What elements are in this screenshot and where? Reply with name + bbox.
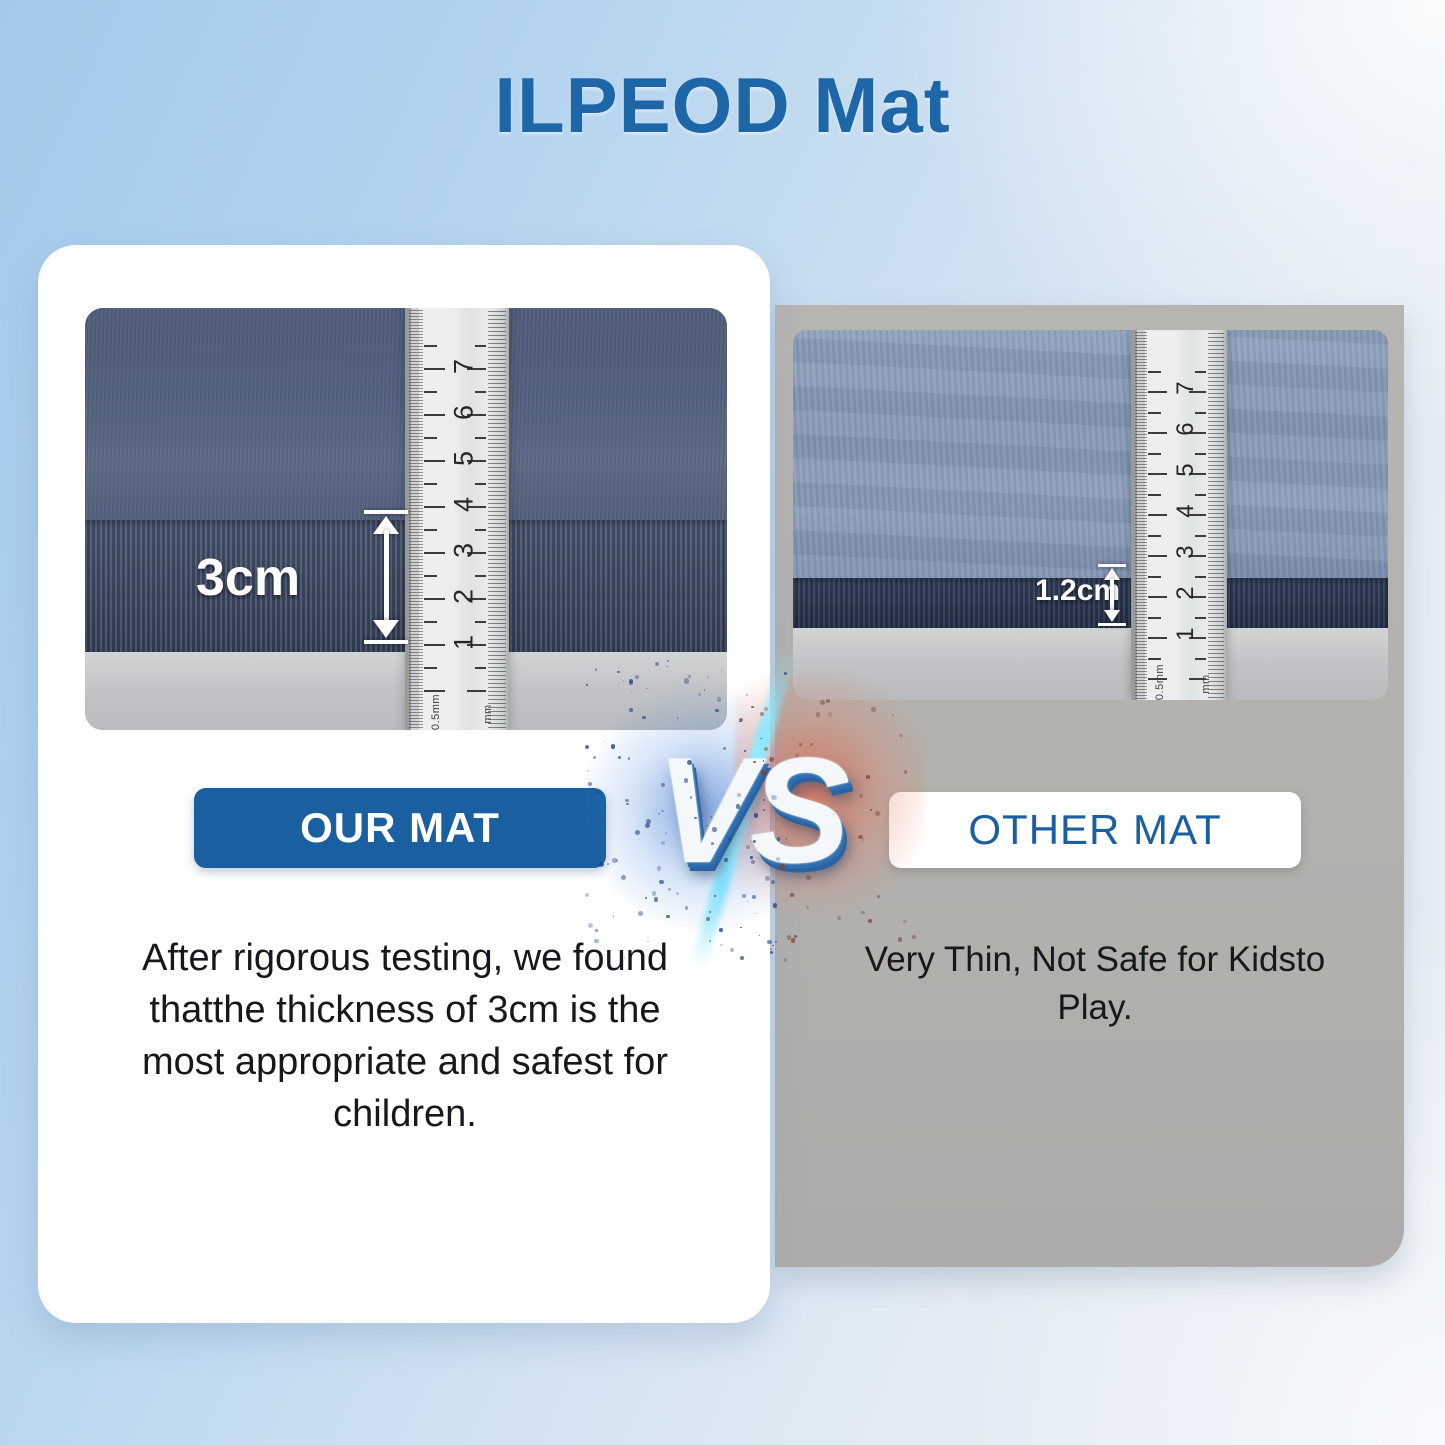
- ruler-tick: [409, 619, 423, 620]
- ruler-tick: [1135, 461, 1147, 462]
- ruler-tick: [488, 503, 506, 504]
- ruler-tick: [1208, 541, 1224, 542]
- ruler-tick: [409, 367, 423, 368]
- ruler-tick: [488, 527, 506, 528]
- ruler-tick: [409, 328, 423, 329]
- ruler-tick: [488, 467, 506, 468]
- ruler-tick: [488, 387, 506, 388]
- ruler-tick: [1208, 501, 1224, 502]
- ruler-number: 1: [448, 626, 479, 660]
- ruler-tick: [488, 511, 506, 512]
- ruler-tick: [488, 603, 506, 604]
- ruler-tick: [1135, 455, 1147, 456]
- ruler-tick: [1208, 513, 1224, 514]
- ruler-tick: [409, 652, 423, 653]
- ruler-tick: [1208, 533, 1224, 534]
- ruler-tick: [409, 631, 423, 632]
- ruler-tick: [488, 419, 506, 420]
- ruler-tick: [488, 595, 506, 596]
- infographic-canvas: ILPEOD Mat 12345670.5mmmm 3cm 12345670.5…: [0, 0, 1445, 1445]
- ruler-tick: [409, 385, 423, 386]
- ruler-tick: [488, 655, 506, 656]
- ruler-tick: [488, 383, 506, 384]
- ruler-tick: [1148, 658, 1160, 660]
- ruler-tick: [409, 487, 423, 488]
- ruler-tick: [1135, 689, 1147, 690]
- ruler-tick: [409, 604, 423, 605]
- ruler-tick: [409, 583, 423, 584]
- ruler-tick: [488, 475, 506, 476]
- other-measurement-arrow: [1098, 564, 1126, 626]
- ruler-tick: [1208, 341, 1224, 342]
- ruler-tick: [409, 445, 423, 446]
- ruler-tick: [409, 310, 423, 311]
- ruler-tick: [409, 496, 423, 497]
- ruler-tick: [409, 403, 423, 404]
- ruler-tick: [409, 598, 423, 599]
- ruler-tick: [1135, 698, 1147, 699]
- ruler-tick: [409, 361, 423, 362]
- ruler-tick: [1208, 517, 1224, 518]
- ruler-tick: [409, 502, 423, 503]
- ruler-tick: [488, 463, 506, 464]
- ruler-tick: [488, 683, 506, 684]
- ruler-tick: [488, 331, 506, 332]
- ruler-tick: [1208, 641, 1224, 642]
- ruler-tick: [1148, 576, 1160, 578]
- ruler-tick: [1135, 527, 1147, 528]
- ruler-tick: [1208, 625, 1224, 626]
- ruler-tick: [488, 671, 506, 672]
- ruler-tick: [1148, 453, 1160, 455]
- ruler-number: 7: [1172, 371, 1200, 405]
- ruler-tick: [1208, 629, 1224, 630]
- ruler-tick: [1135, 569, 1147, 570]
- ruler-tick: [409, 316, 423, 317]
- ruler-tick: [424, 644, 445, 646]
- ruler-tick: [409, 343, 423, 344]
- ruler-tick: [409, 562, 423, 563]
- ruler-micro-label-left: 0.5mm: [1154, 662, 1166, 700]
- ruler-tick: [1135, 482, 1147, 483]
- ruler-tick: [488, 483, 506, 484]
- ruler-tick: [488, 495, 506, 496]
- ruler-tick: [409, 544, 423, 545]
- ruler-tick: [409, 658, 423, 659]
- ruler-tick: [409, 676, 423, 677]
- vs-particle: [770, 948, 772, 950]
- ruler-tick: [488, 423, 506, 424]
- ruler-number: 5: [1172, 453, 1200, 487]
- ruler-tick: [409, 715, 423, 716]
- ruler-tick: [409, 691, 423, 692]
- ruler-tick: [1135, 491, 1147, 492]
- ruler-tick: [1135, 653, 1147, 654]
- ruler-tick: [1135, 374, 1147, 375]
- ruler-tick: [1135, 530, 1147, 531]
- ruler-tick: [488, 639, 506, 640]
- ruler-tick: [488, 551, 506, 552]
- ruler-tick: [488, 535, 506, 536]
- ruler-tick: [1208, 657, 1224, 658]
- ruler-tick: [488, 323, 506, 324]
- ruler-tick: [1135, 545, 1147, 546]
- ruler-tick: [409, 679, 423, 680]
- ruler-tick: [409, 601, 423, 602]
- ruler-tick: [409, 568, 423, 569]
- ruler-tick: [488, 491, 506, 492]
- ruler-tick: [1135, 626, 1147, 627]
- ruler-tick: [1208, 525, 1224, 526]
- ruler-tick: [409, 454, 423, 455]
- ruler-tick: [409, 661, 423, 662]
- ruler-tick: [1135, 677, 1147, 678]
- ruler-tick: [1135, 581, 1147, 582]
- ruler-tick: [1135, 506, 1147, 507]
- ruler-tick: [1148, 432, 1167, 434]
- ruler-tick: [1135, 650, 1147, 651]
- ruler-tick: [409, 694, 423, 695]
- ruler-tick: [488, 355, 506, 356]
- ruler-tick: [409, 508, 423, 509]
- ruler-tick: [1208, 497, 1224, 498]
- ruler-tick: [409, 442, 423, 443]
- ruler-tick: [409, 469, 423, 470]
- ruler-tick: [1208, 461, 1224, 462]
- ruler-tick: [1135, 512, 1147, 513]
- ruler-tick: [1208, 489, 1224, 490]
- ruler-tick: [1208, 389, 1224, 390]
- ruler-tick: [1208, 601, 1224, 602]
- ruler-tick: [488, 455, 506, 456]
- ruler-tick: [409, 517, 423, 518]
- ruler-tick: [424, 437, 438, 439]
- ruler-tick: [488, 615, 506, 616]
- ruler-tick: [409, 484, 423, 485]
- ruler-tick: [1148, 494, 1160, 496]
- ruler-tick: [1208, 613, 1224, 614]
- ruler-tick: [409, 589, 423, 590]
- ruler-tick: [409, 379, 423, 380]
- ruler-tick: [1208, 505, 1224, 506]
- ruler-tick: [1148, 637, 1167, 639]
- ruler-tick: [1135, 476, 1147, 477]
- ruler-tick: [1208, 445, 1224, 446]
- ruler-tick: [409, 499, 423, 500]
- ruler-tick: [1208, 653, 1224, 654]
- ruler-tick: [409, 571, 423, 572]
- ruler-tick: [1135, 404, 1147, 405]
- ruler-tick: [1135, 401, 1147, 402]
- ruler-tick: [409, 319, 423, 320]
- ruler-tick: [488, 339, 506, 340]
- ruler-tick: [1135, 380, 1147, 381]
- ruler-tick: [409, 553, 423, 554]
- ruler-tick: [424, 667, 438, 669]
- ruler-tick: [1135, 428, 1147, 429]
- ruler-tick: [409, 451, 423, 452]
- ruler-tick: [488, 471, 506, 472]
- ruler-tick: [1135, 617, 1147, 618]
- ruler-tick: [1135, 509, 1147, 510]
- ruler-number: 5: [448, 442, 479, 476]
- ruler-tick: [1135, 521, 1147, 522]
- ruler-tick: [488, 567, 506, 568]
- ruler-tick: [488, 363, 506, 364]
- our-mat-description: After rigorous testing, we found thatthe…: [116, 932, 694, 1140]
- ruler-tick: [1208, 385, 1224, 386]
- ruler-tick: [1135, 605, 1147, 606]
- ruler-tick: [1208, 633, 1224, 634]
- ruler-tick: [1208, 509, 1224, 510]
- ruler-tick: [488, 587, 506, 588]
- ruler-tick: [1135, 566, 1147, 567]
- ruler-tick: [409, 448, 423, 449]
- ruler-tick: [1148, 391, 1167, 393]
- ruler-tick: [409, 637, 423, 638]
- ruler-tick: [488, 319, 506, 320]
- ruler-tick: [1135, 389, 1147, 390]
- ruler-tick: [1135, 332, 1147, 333]
- ruler-tick: [488, 663, 506, 664]
- ruler-tick: [1135, 551, 1147, 552]
- ruler-tick: [424, 368, 445, 370]
- ruler-tick: [409, 538, 423, 539]
- ruler-tick: [1135, 362, 1147, 363]
- ruler-tick: [1208, 437, 1224, 438]
- other-mat-photo: 12345670.5mmmm: [793, 330, 1388, 700]
- ruler-tick: [1135, 692, 1147, 693]
- ruler-micro-label-right: mm: [482, 699, 494, 729]
- ruler-tick: [1208, 545, 1224, 546]
- ruler-tick: [409, 397, 423, 398]
- ruler-tick: [1208, 473, 1224, 474]
- ruler-tick: [409, 322, 423, 323]
- ruler-tick: [1135, 536, 1147, 537]
- ruler-tick: [409, 700, 423, 701]
- ruler-tick: [1135, 467, 1147, 468]
- ruler-tick: [409, 667, 423, 668]
- ruler-tick: [409, 412, 423, 413]
- ruler-tick: [1135, 464, 1147, 465]
- ruler-tick: [1135, 620, 1147, 621]
- ruler-tick: [409, 556, 423, 557]
- ruler-tick: [1135, 596, 1147, 597]
- ruler-tick: [1135, 398, 1147, 399]
- ruler-tick: [409, 349, 423, 350]
- ruler-tick: [409, 475, 423, 476]
- ruler-tick: [1208, 493, 1224, 494]
- ruler-tick: [409, 421, 423, 422]
- ruler-tick: [1135, 416, 1147, 417]
- ruler-tick: [1208, 521, 1224, 522]
- ruler-tick: [409, 472, 423, 473]
- ruler-tick: [488, 531, 506, 532]
- ruler-number: 4: [448, 488, 479, 522]
- ruler-tick: [1208, 417, 1224, 418]
- ruler-tick: [1135, 656, 1147, 657]
- ruler-tick: [1135, 641, 1147, 642]
- other-mat-surface: [793, 330, 1388, 578]
- ruler-tick: [488, 611, 506, 612]
- ruler-tick: [409, 712, 423, 713]
- other-mat-chip[interactable]: OTHER MAT: [889, 792, 1301, 868]
- ruler-tick: [1135, 578, 1147, 579]
- ruler-tick: [488, 391, 506, 392]
- ruler-tick: [424, 414, 445, 416]
- ruler-tick: [409, 490, 423, 491]
- ruler-tick: [409, 592, 423, 593]
- ruler-tick: [1208, 397, 1224, 398]
- ruler-tick: [409, 382, 423, 383]
- ruler-tick: [1135, 659, 1147, 660]
- ruler-tick: [409, 358, 423, 359]
- other-ruler: 12345670.5mmmm: [1131, 330, 1227, 700]
- ruler-tick: [1135, 497, 1147, 498]
- ruler-number: 7: [448, 350, 479, 384]
- ruler-tick: [1208, 353, 1224, 354]
- ruler-tick: [409, 352, 423, 353]
- ruler-tick: [409, 634, 423, 635]
- ruler-tick: [424, 345, 438, 347]
- ruler-tick: [1208, 569, 1224, 570]
- ruler-tick: [409, 655, 423, 656]
- ruler-tick: [1135, 503, 1147, 504]
- ruler-tick: [1135, 437, 1147, 438]
- ruler-tick: [488, 543, 506, 544]
- ruler-tick: [1135, 443, 1147, 444]
- ruler-tick: [1135, 647, 1147, 648]
- ruler-tick: [488, 507, 506, 508]
- ruler-tick: [1135, 584, 1147, 585]
- ruler-micro-label-left: 0.5mm: [430, 692, 442, 730]
- ruler-tick: [1208, 665, 1224, 666]
- ruler-tick: [409, 493, 423, 494]
- ruler-tick: [409, 463, 423, 464]
- ruler-tick: [1135, 431, 1147, 432]
- ruler-tick: [475, 437, 486, 439]
- ruler-tick: [409, 514, 423, 515]
- ruler-tick: [475, 621, 486, 623]
- other-mat-chip-label: OTHER MAT: [968, 806, 1221, 854]
- ruler-tick: [1135, 590, 1147, 591]
- ruler-tick: [488, 487, 506, 488]
- our-mat-chip-label: OUR MAT: [300, 804, 500, 852]
- ruler-tick: [475, 667, 486, 669]
- ruler-number: 6: [1172, 412, 1200, 446]
- ruler-tick: [1208, 441, 1224, 442]
- our-mat-chip[interactable]: OUR MAT: [194, 788, 606, 868]
- ruler-tick: [409, 313, 423, 314]
- ruler-tick: [1135, 629, 1147, 630]
- ruler-tick: [1208, 465, 1224, 466]
- ruler-tick: [488, 659, 506, 660]
- ruler-tick: [1135, 395, 1147, 396]
- ruler-tick: [409, 709, 423, 710]
- ruler-tick: [424, 575, 438, 577]
- ruler-tick: [488, 591, 506, 592]
- ruler-tick: [1148, 596, 1167, 598]
- ruler-tick: [1135, 632, 1147, 633]
- ruler-tick: [1135, 488, 1147, 489]
- ruler-tick: [409, 727, 423, 728]
- ruler-tick: [1148, 514, 1167, 516]
- ruler-tick: [1208, 373, 1224, 374]
- ruler-tick: [409, 613, 423, 614]
- ruler-tick: [409, 625, 423, 626]
- ruler-tick: [1135, 680, 1147, 681]
- ruler-tick: [424, 460, 445, 462]
- ruler-tick: [488, 583, 506, 584]
- ruler-tick: [409, 400, 423, 401]
- ruler-tick: [409, 607, 423, 608]
- ruler-tick: [1135, 524, 1147, 525]
- ruler-tick: [488, 311, 506, 312]
- ruler-tick: [488, 523, 506, 524]
- ruler-tick: [409, 706, 423, 707]
- ruler-tick: [1135, 419, 1147, 420]
- ruler-tick: [409, 718, 423, 719]
- ruler-tick: [409, 370, 423, 371]
- ruler-tick: [409, 430, 423, 431]
- ruler-tick: [1208, 381, 1224, 382]
- ruler-number: 6: [448, 396, 479, 430]
- ruler-tick: [488, 407, 506, 408]
- ruler-tick: [1208, 645, 1224, 646]
- ruler-tick: [1208, 617, 1224, 618]
- ruler-tick: [488, 375, 506, 376]
- ruler-number: 2: [448, 580, 479, 614]
- ruler-tick: [1135, 473, 1147, 474]
- ruler-tick: [1208, 581, 1224, 582]
- ruler-tick: [409, 457, 423, 458]
- ruler-tick: [409, 532, 423, 533]
- ruler-tick: [1208, 405, 1224, 406]
- ruler-tick: [475, 575, 486, 577]
- other-photo-floor: [793, 628, 1388, 700]
- ruler-tick: [1208, 593, 1224, 594]
- ruler-tick: [1135, 449, 1147, 450]
- ruler-tick: [488, 559, 506, 560]
- ruler-tick: [1208, 453, 1224, 454]
- ruler-tick: [1135, 383, 1147, 384]
- ruler-tick: [1208, 369, 1224, 370]
- our-measurement-label: 3cm: [196, 548, 300, 608]
- ruler-tick: [475, 529, 486, 531]
- ruler-tick: [409, 415, 423, 416]
- ruler-tick: [409, 460, 423, 461]
- ruler-tick: [1135, 344, 1147, 345]
- ruler-tick: [488, 315, 506, 316]
- ruler-tick: [1135, 425, 1147, 426]
- ruler-tick: [409, 388, 423, 389]
- ruler-tick: [409, 586, 423, 587]
- ruler-tick: [488, 431, 506, 432]
- ruler-tick: [488, 687, 506, 688]
- ruler-tick: [488, 395, 506, 396]
- ruler-tick: [488, 435, 506, 436]
- ruler-tick: [1208, 661, 1224, 662]
- ruler-tick: [409, 409, 423, 410]
- ruler-tick: [1208, 337, 1224, 338]
- ruler-tick: [1135, 365, 1147, 366]
- ruler-tick: [409, 628, 423, 629]
- ruler-tick: [409, 481, 423, 482]
- ruler-tick: [409, 526, 423, 527]
- ruler-tick: [1135, 671, 1147, 672]
- ruler-number: 2: [1172, 576, 1200, 610]
- ruler-tick: [1135, 533, 1147, 534]
